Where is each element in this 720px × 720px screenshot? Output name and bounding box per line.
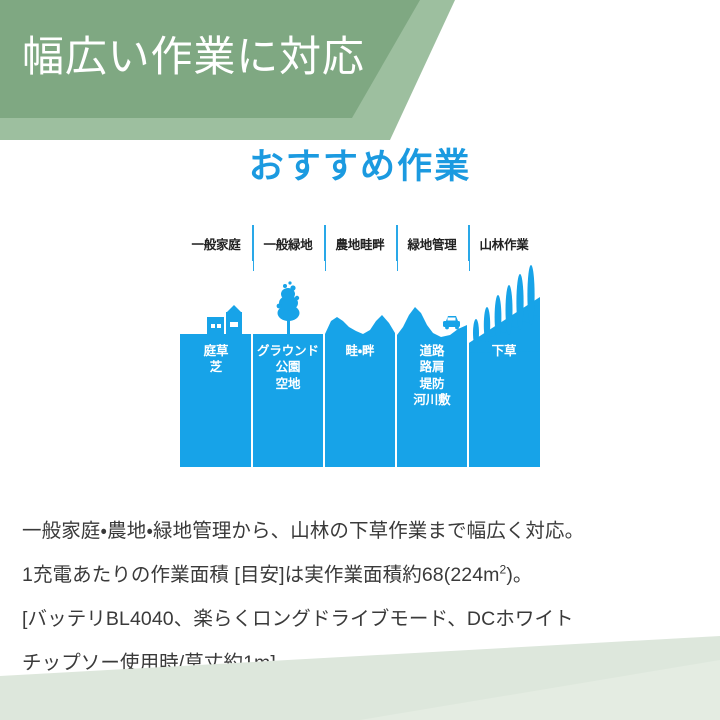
chart-landscape-figure (180, 261, 540, 467)
header-banner: 幅広い作業に対応 (0, 0, 720, 140)
description-line-1: 一般家庭・農地・緑地管理から、山林の下草作業まで幅広く対応。 (22, 512, 702, 550)
column-header-label: 山林作業 (479, 234, 528, 253)
houses-icon (180, 305, 251, 467)
column-header-cell: 山林作業 (468, 227, 540, 261)
description-block: 一般家庭・農地・緑地管理から、山林の下草作業まで幅広く対応。 1充電あたりの作業… (22, 512, 702, 688)
description-line-2: 1充電あたりの作業面積 [目安]は実作業面積約68(224m2)。 (22, 556, 702, 594)
column-header-cell: 一般緑地 (252, 227, 324, 261)
tree-icon (253, 281, 324, 467)
description-line-2-before: 1充電あたりの作業面積 [目安]は実作業面積約68(224m (22, 564, 500, 586)
recommended-work-chart: おすすめ作業 一般家庭 一般緑地 農地畦畔 緑地管理 山林作業 (0, 148, 720, 467)
conifer-forest-icon (469, 265, 540, 467)
description-line-2-after: )。 (506, 564, 532, 586)
column-header-label: 一般家庭 (191, 234, 240, 253)
chart-column-headers: 一般家庭 一般緑地 農地畦畔 緑地管理 山林作業 (180, 227, 540, 261)
chart-area: 一般家庭 一般緑地 農地畦畔 緑地管理 山林作業 (180, 227, 540, 467)
description-line-3: [バッテリBL4040、楽らくロングドライブモード、DCホワイト (22, 600, 702, 638)
ridge-field-icon (325, 315, 395, 467)
column-header-cell: 緑地管理 (396, 227, 468, 261)
chart-title: おすすめ作業 (0, 148, 720, 193)
column-header-cell: 農地畦畔 (324, 227, 396, 261)
column-header-label: 緑地管理 (407, 234, 456, 253)
column-header-cell: 一般家庭 (180, 227, 252, 261)
description-line-4: チップソー使用時/草丈約1m] (22, 644, 702, 682)
road-car-icon (397, 307, 467, 467)
column-header-label: 農地畦畔 (335, 234, 384, 253)
page-title: 幅広い作業に対応 (22, 33, 365, 81)
column-header-label: 一般緑地 (263, 234, 312, 253)
